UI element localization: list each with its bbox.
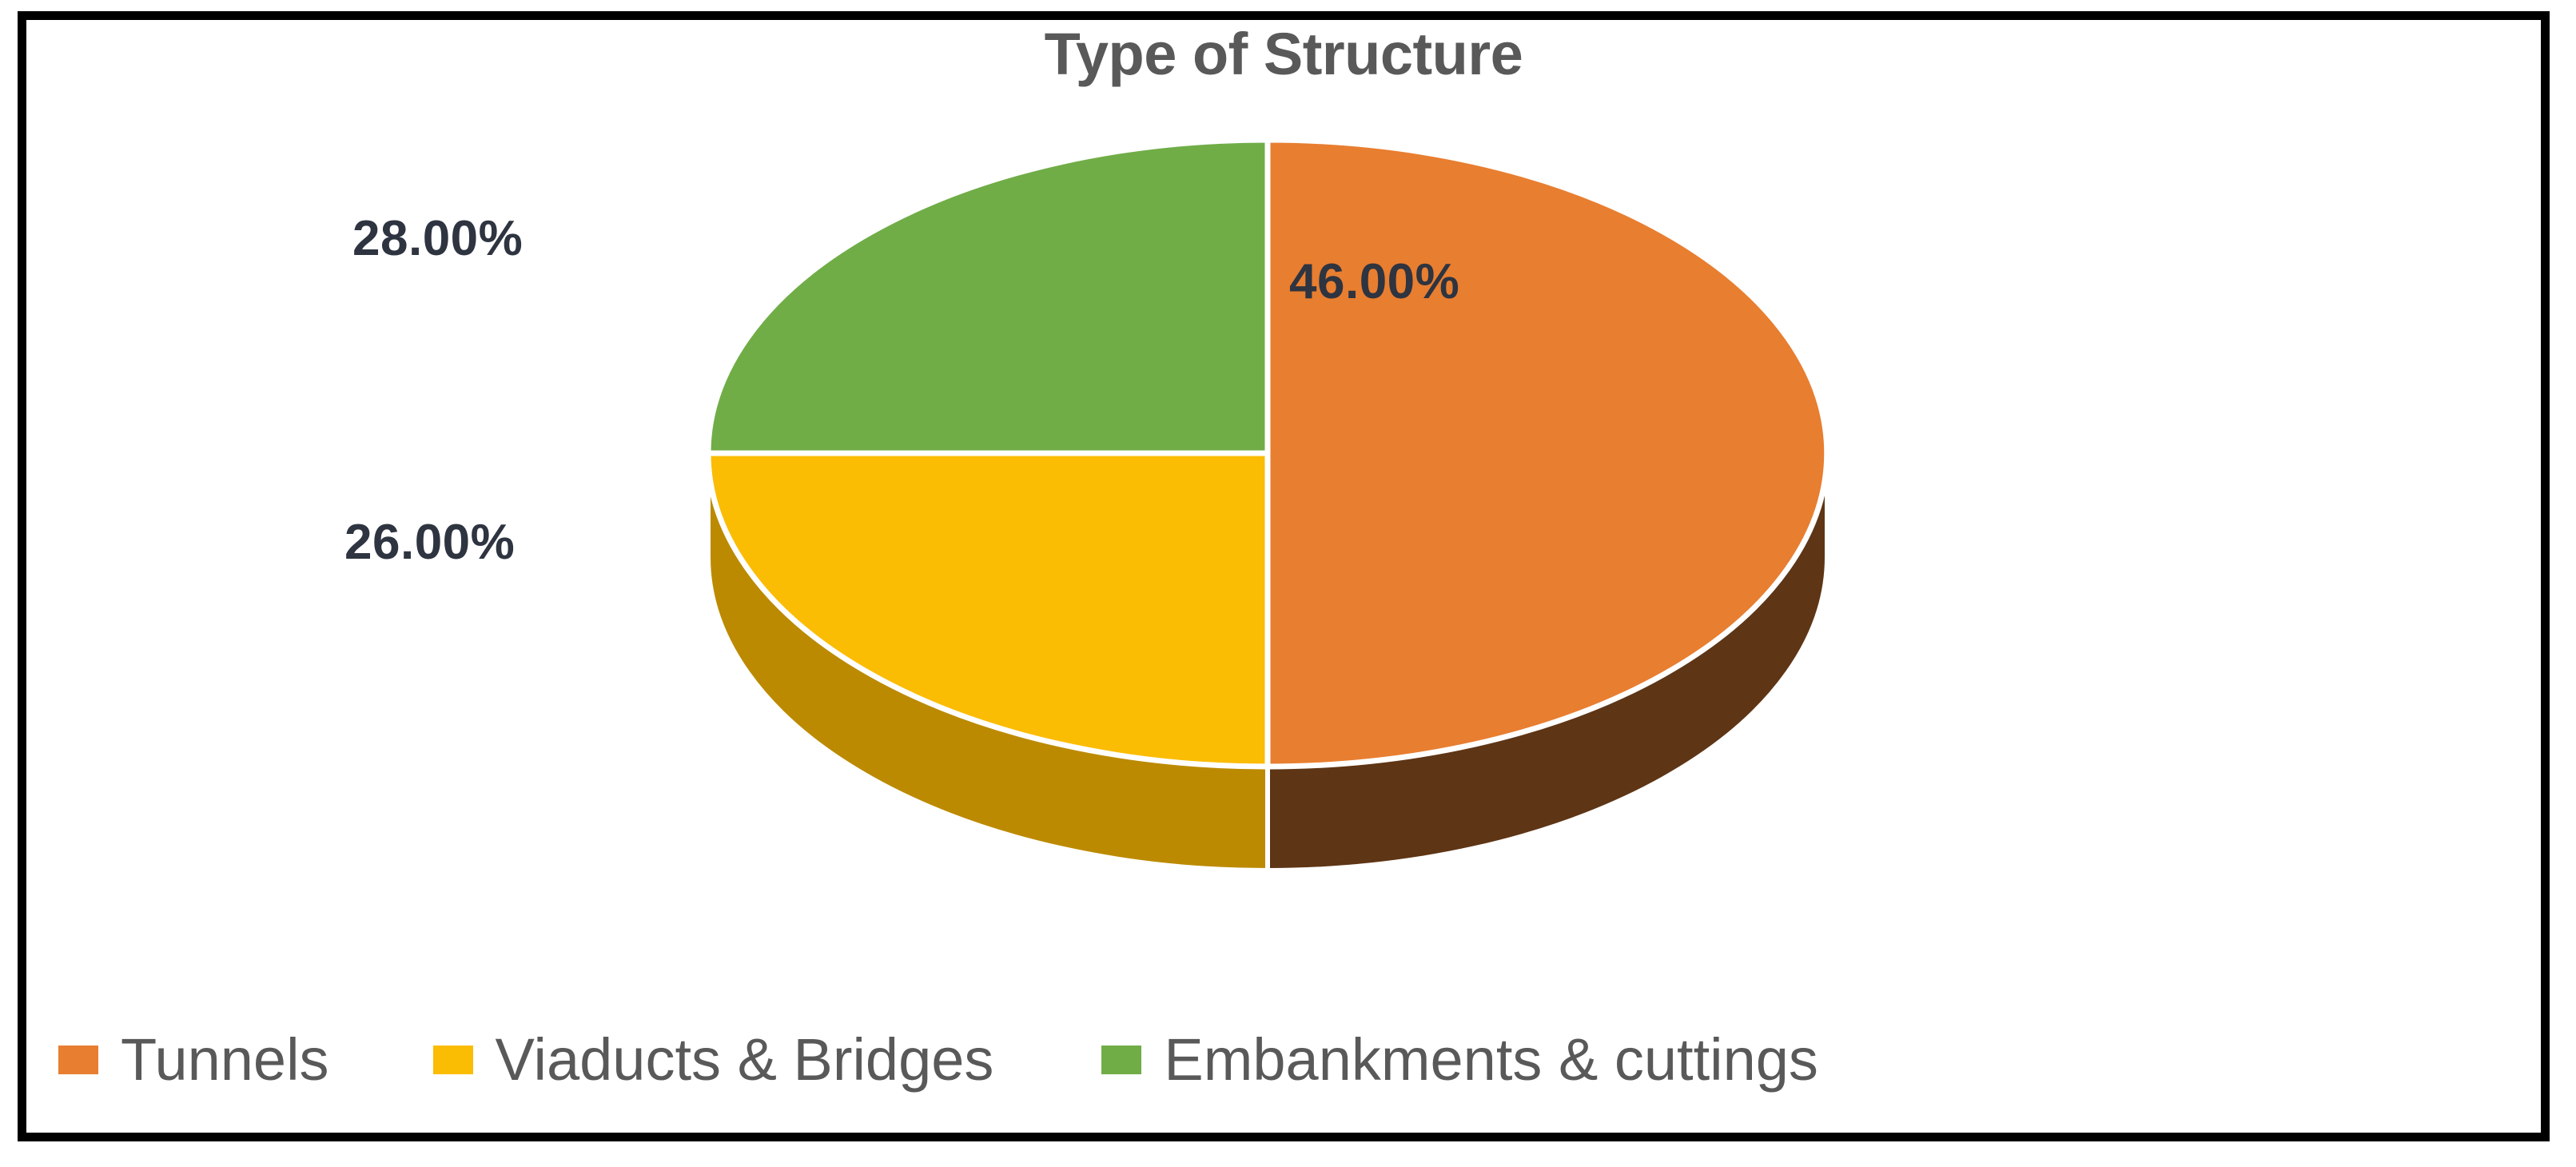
legend-label-embankments: Embankments & cuttings <box>1164 1030 1818 1089</box>
legend-swatch-viaducts <box>433 1046 473 1074</box>
pie-label-tunnels: 46.00% <box>1289 253 1459 310</box>
pie-label-viaducts: 26.00% <box>344 514 515 571</box>
legend-item-tunnels[interactable]: Tunnels <box>58 1030 329 1089</box>
chart-canvas: Type of Structure <box>26 20 2541 1133</box>
pie-slice-embankments[interactable] <box>708 140 1268 453</box>
legend-swatch-embankments <box>1101 1046 1141 1074</box>
chart-frame: Type of Structure <box>18 11 2550 1141</box>
chart-legend: Tunnels Viaducts & Bridges Embankments &… <box>26 1016 2541 1104</box>
pie-top-faces <box>708 140 1827 767</box>
legend-item-viaducts[interactable]: Viaducts & Bridges <box>433 1030 994 1089</box>
legend-swatch-tunnels <box>58 1046 98 1074</box>
pie-plot-area: 46.00% 26.00% 28.00% <box>26 92 2541 979</box>
legend-label-viaducts: Viaducts & Bridges <box>496 1030 994 1089</box>
pie-label-embankments: 28.00% <box>352 210 523 267</box>
legend-label-tunnels: Tunnels <box>121 1030 329 1089</box>
chart-title: Type of Structure <box>26 25 2541 84</box>
legend-item-embankments[interactable]: Embankments & cuttings <box>1101 1030 1818 1089</box>
